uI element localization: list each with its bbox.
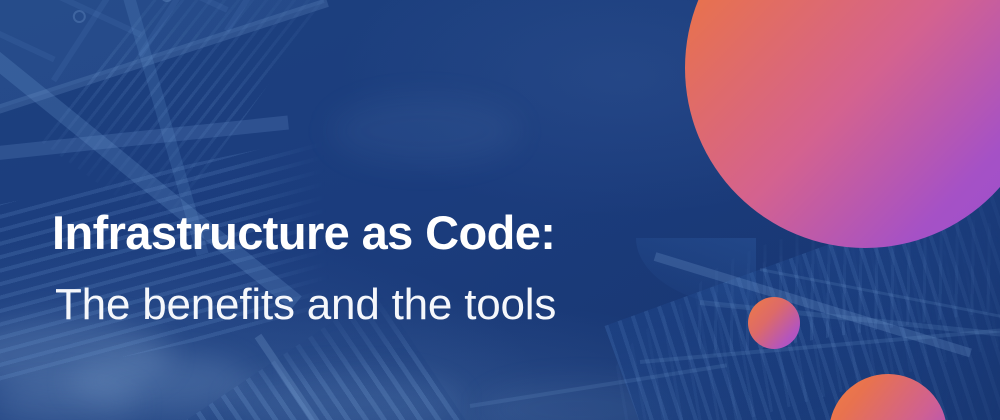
banner-headline: Infrastructure as Code: xyxy=(52,208,692,259)
banner-text-block: Infrastructure as Code: The benefits and… xyxy=(52,208,692,328)
article-hero-banner: Infrastructure as Code: The benefits and… xyxy=(0,0,1000,420)
banner-subheadline: The benefits and the tools xyxy=(55,281,692,329)
small-gradient-circle xyxy=(748,297,800,349)
